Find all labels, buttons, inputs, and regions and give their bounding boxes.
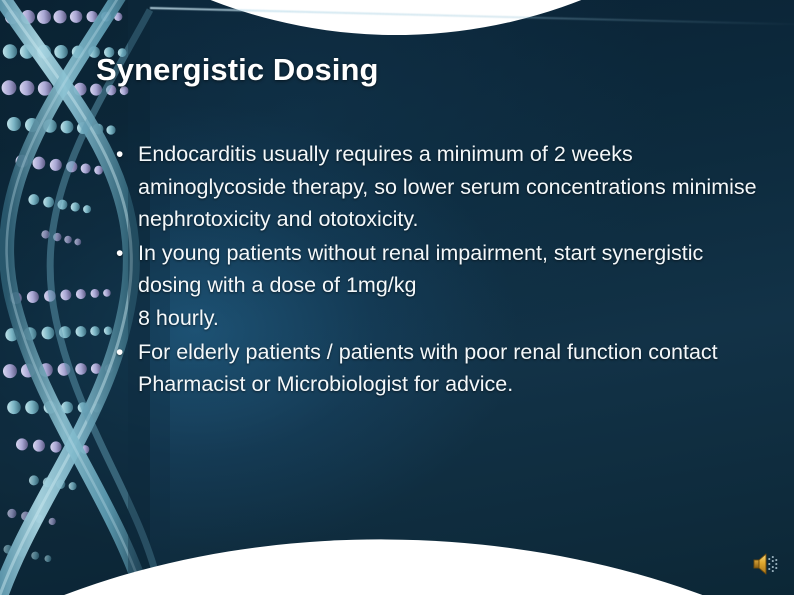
page-title: Synergistic Dosing: [96, 50, 696, 90]
list-item-text: For elderly patients / patients with poo…: [138, 336, 758, 401]
list-item: • For elderly patients / patients with p…: [110, 336, 758, 401]
list-item: • In young patients without renal impair…: [110, 237, 758, 335]
bullet-list: • Endocarditis usually requires a minimu…: [110, 138, 758, 402]
list-item: • Endocarditis usually requires a minimu…: [110, 138, 758, 236]
list-item-text: Endocarditis usually requires a minimum …: [138, 138, 758, 236]
bullet-point-icon: •: [110, 138, 138, 171]
bullet-point-icon: •: [110, 336, 138, 369]
bullet-point-icon: •: [110, 237, 138, 270]
list-item-text: In young patients without renal impairme…: [138, 237, 758, 335]
slide: Synergistic Dosing • Endocarditis usuall…: [0, 0, 794, 595]
speaker-icon[interactable]: [752, 551, 782, 577]
